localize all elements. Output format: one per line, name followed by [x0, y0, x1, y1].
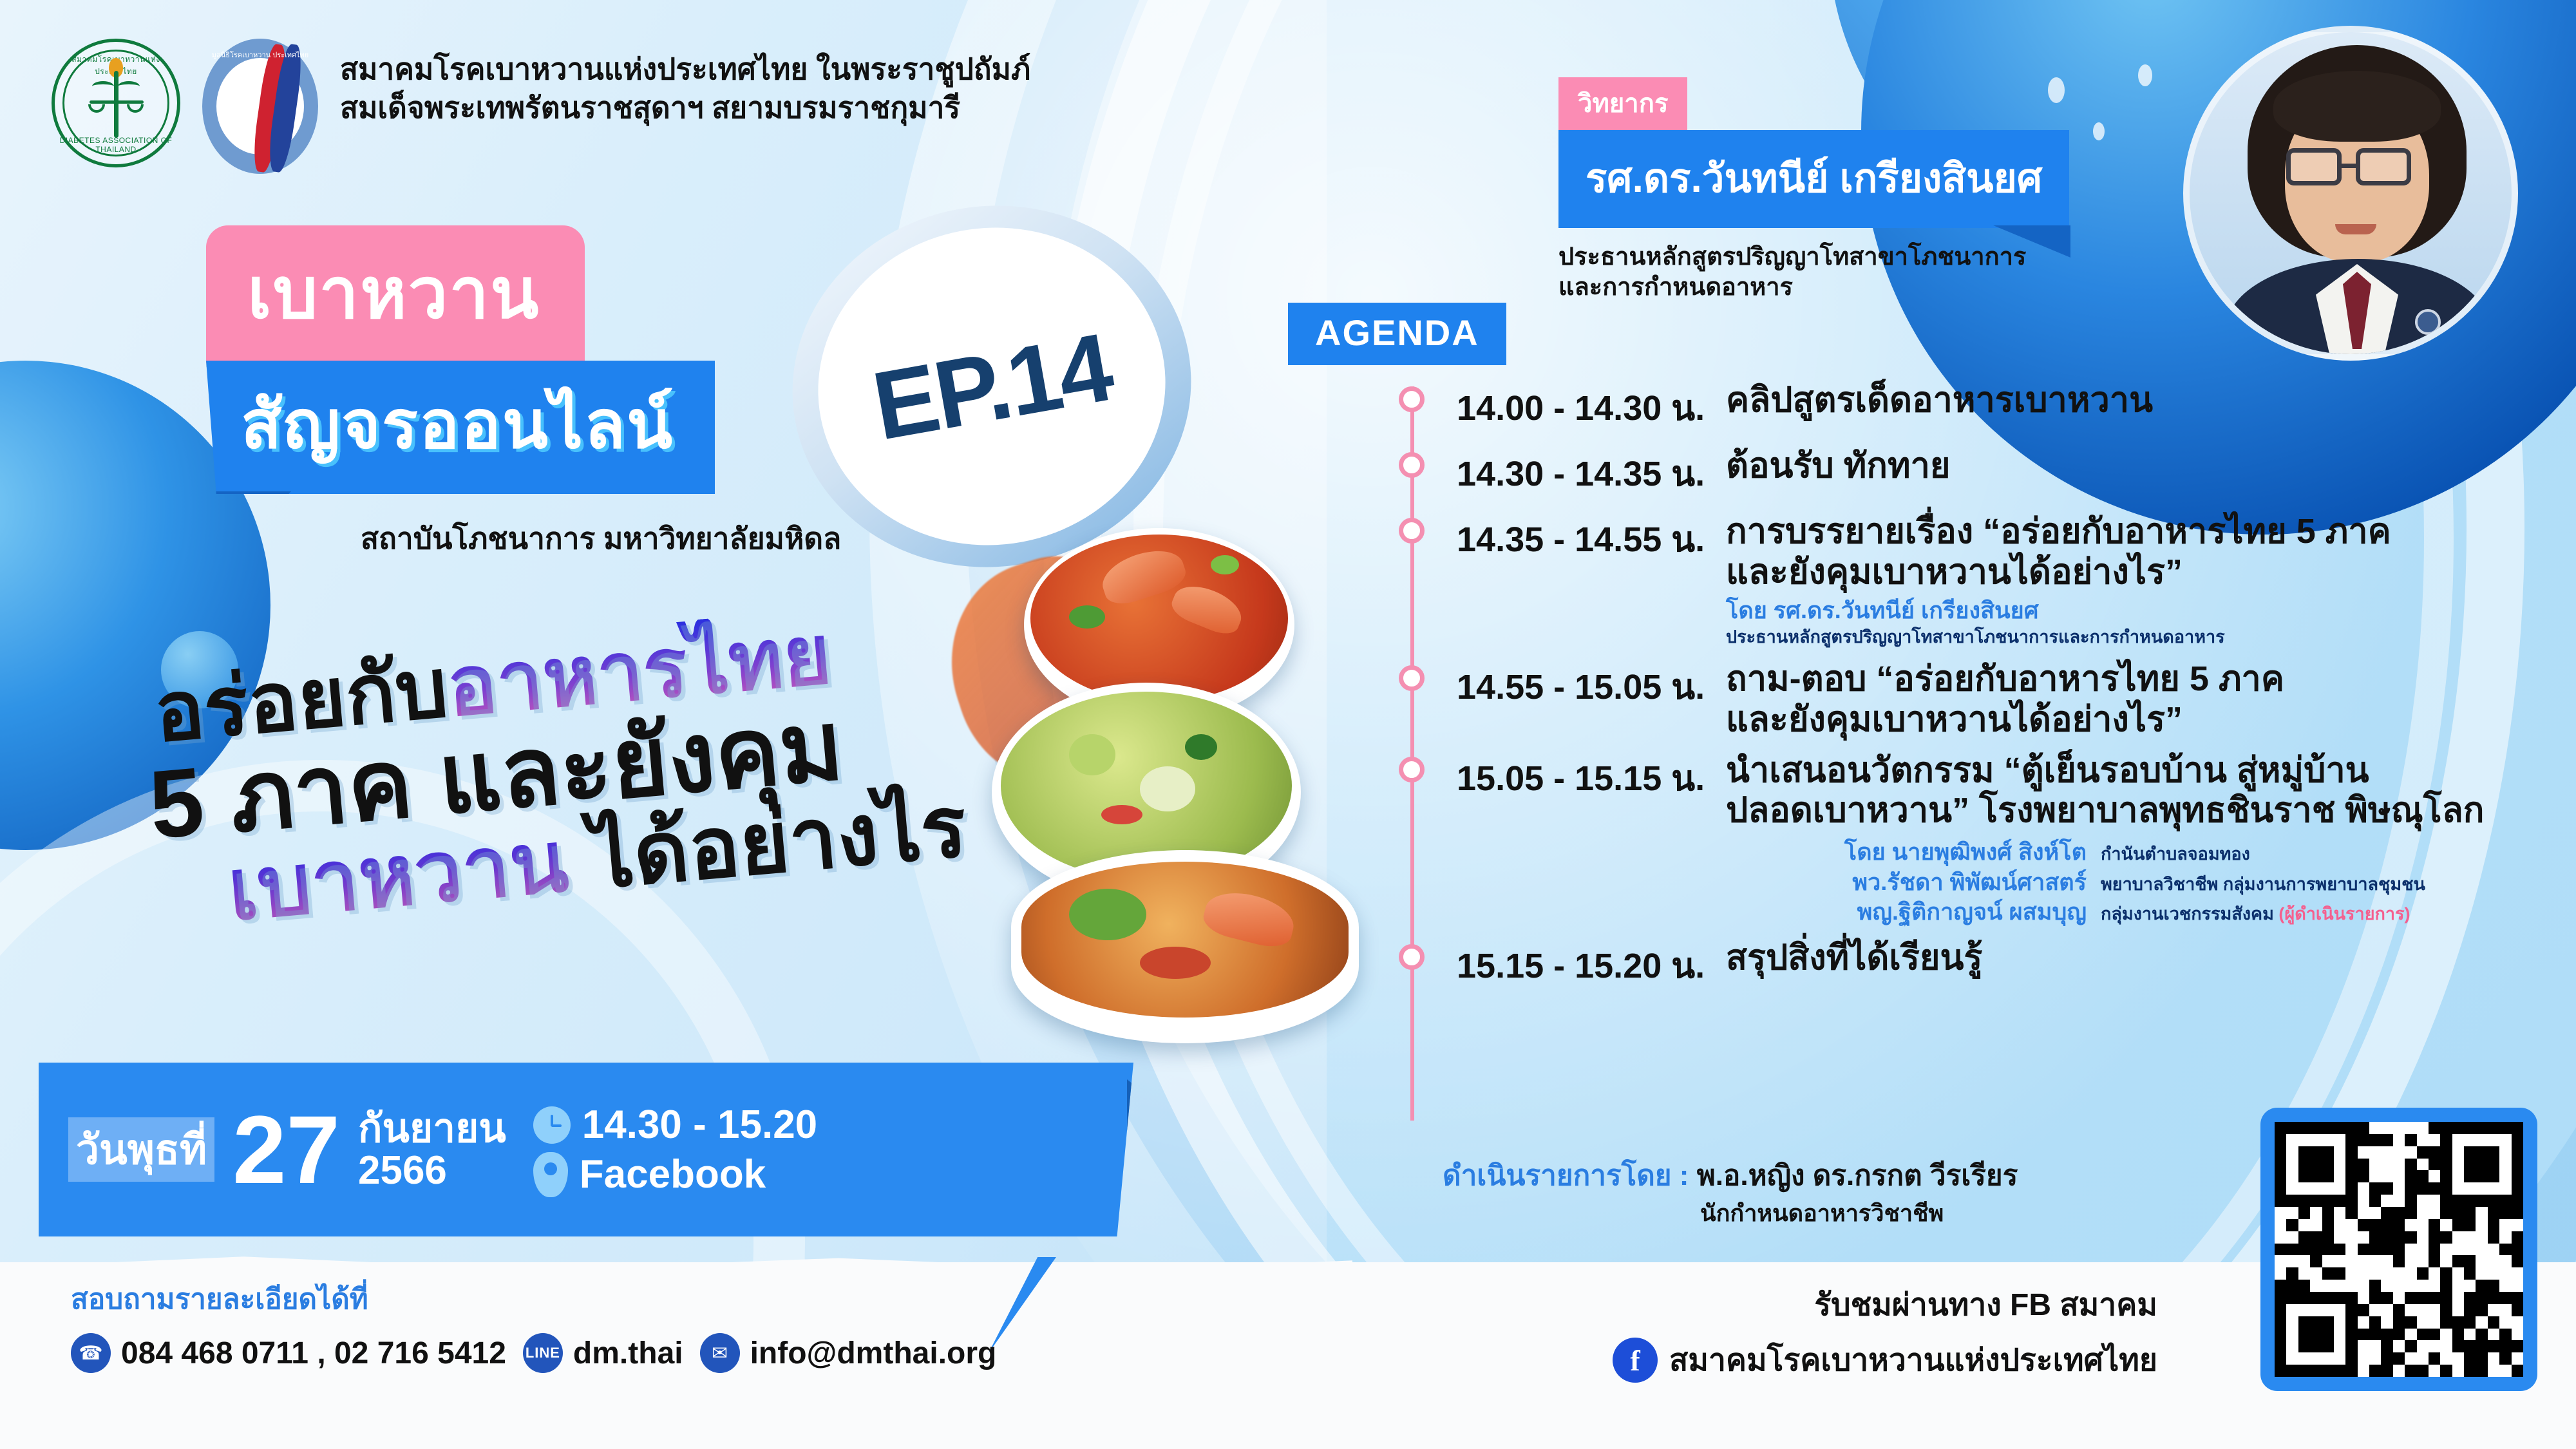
- footer-bar: สอบถามรายละเอียดได้ที่ ☎ 084 468 0711 , …: [0, 1262, 2576, 1449]
- facebook-icon: f: [1613, 1338, 1658, 1383]
- stir-fry-plate: [1011, 850, 1359, 1043]
- agenda-item-time: 14.35 - 14.55 น.: [1417, 511, 1726, 567]
- agenda-item-title: และยังคุมเบาหวานได้อย่างไร”: [1726, 552, 2563, 592]
- header-branding: สมาคมโรคเบาหวานแห่งประเทศไทย DIABETES AS…: [52, 39, 1030, 174]
- agenda-timeline-dot: [1399, 452, 1425, 478]
- agenda-timeline-dot: [1399, 944, 1425, 970]
- caduceus-scales-icon: [92, 64, 140, 142]
- org-line-2: สมเด็จพระเทพรัตนราชสุดาฯ สยามบรมราชกุมาร…: [340, 89, 1030, 128]
- title-blue-word: สัญจรออนไลน์: [206, 361, 715, 494]
- location-pin-icon: [533, 1152, 568, 1197]
- footer-watch-block: รับชมผ่านทาง FB สมาคม f สมาคมโรคเบาหวานแ…: [1613, 1280, 2157, 1385]
- credit-name: พญ.ฐิติกาญจน์ ผสมบุญ: [1726, 897, 2087, 927]
- event-time: 14.30 - 15.20: [582, 1102, 817, 1148]
- agenda-item-time: 14.30 - 14.35 น.: [1417, 446, 1726, 501]
- email-address: info@dmthai.org: [750, 1336, 997, 1371]
- agenda-item: 14.30 - 14.35 น.ต้อนรับ ทักทาย: [1417, 446, 2563, 501]
- facebook-page-name: สมาคมโรคเบาหวานแห่งประเทศไทย: [1669, 1336, 2157, 1385]
- weekday-label: วันพุธที่: [68, 1117, 214, 1182]
- line-contact[interactable]: LINE dm.thai: [523, 1333, 683, 1373]
- credit-row: พว.รัชดา พิพัฒน์ศาสตร์พยาบาลวิชาชีพ กลุ่…: [1726, 867, 2563, 898]
- agenda-item-time: 15.15 - 15.20 น.: [1417, 938, 1726, 993]
- day-number: 27: [232, 1106, 340, 1193]
- agenda-item-title: และยังคุมเบาหวานได้อย่างไร”: [1726, 699, 2563, 740]
- footer-contact-block: สอบถามรายละเอียดได้ที่ ☎ 084 468 0711 , …: [71, 1276, 996, 1373]
- moderator-name: พ.อ.หญิง ดร.กรกต วีรเรียร: [1697, 1160, 2018, 1191]
- diabetes-association-logo: สมาคมโรคเบาหวานแห่งประเทศไทย DIABETES AS…: [52, 39, 180, 167]
- credit-row: โดย นายพุฒิพงศ์ สิงห์โตกำนันตำบลจอมทอง: [1726, 837, 2563, 867]
- agenda-item-time: 14.55 - 15.05 น.: [1417, 659, 1726, 714]
- speaker-role: ประธานหลักสูตรปริญญาโทสาขาโภชนาการ และกา…: [1558, 242, 2069, 303]
- agenda-item-speaker: โดย รศ.ดร.วันทนีย์ เกรียงสินยศ: [1726, 596, 2563, 625]
- line-id: dm.thai: [573, 1336, 683, 1371]
- agenda-item-title: ต้อนรับ ทักทาย: [1726, 446, 2563, 486]
- credit-role: กลุ่มงานเวชกรรมสังคม (ผู้ดำเนินรายการ): [2101, 903, 2410, 925]
- contact-prompt: สอบถามรายละเอียดได้ที่: [71, 1276, 996, 1321]
- agenda-item-title: ปลอดเบาหวาน” โรงพยาบาลพุทธชินราช พิษณุโล…: [1726, 790, 2563, 831]
- logo-foundation-arc-text: มูลนิธิโรคเบาหวาน ประเทศไทย: [202, 49, 318, 61]
- qr-code-grid: [2275, 1122, 2523, 1377]
- phone-icon: ☎: [71, 1333, 111, 1373]
- agenda-item: 14.35 - 14.55 น.การบรรยายเรื่อง “อร่อยกั…: [1417, 511, 2563, 649]
- speaker-role-line-1: ประธานหลักสูตรปริญญาโทสาขาโภชนาการ: [1558, 242, 2069, 272]
- event-meta: 14.30 - 15.20 Facebook: [533, 1098, 817, 1201]
- title-pink-word: เบาหวาน: [206, 225, 585, 363]
- credit-role: พยาบาลวิชาชีพ กลุ่มงานการพยาบาลชุมชน: [2101, 873, 2425, 896]
- agenda-timeline-dot: [1399, 518, 1425, 544]
- agenda-item-body: นำเสนอนวัตกรรม “ตู้เย็นรอบบ้าน สู่หมู่บ้…: [1726, 750, 2563, 928]
- credit-mc-tag: (ผู้ดำเนินรายการ): [2278, 904, 2410, 923]
- agenda-item: 14.55 - 15.05 น.ถาม-ตอบ “อร่อยกับอาหารไท…: [1417, 659, 2563, 739]
- line-icon: LINE: [523, 1333, 563, 1373]
- moderator-line: ดำเนินรายการโดย : พ.อ.หญิง ดร.กรกต วีรเร…: [1443, 1159, 2018, 1193]
- diabetes-foundation-logo: มูลนิธิโรคเบาหวาน ประเทศไทย: [202, 39, 318, 174]
- speaker-card: วิทยากร รศ.ดร.วันทนีย์ เกรียงสินยศ ประธา…: [1558, 77, 2069, 303]
- agenda-heading: AGENDA: [1288, 303, 1506, 365]
- agenda-item-title: สรุปสิ่งที่ได้เรียนรู้: [1726, 938, 2563, 978]
- agenda-item-credits: โดย นายพุฒิพงศ์ สิงห์โตกำนันตำบลจอมทองพว…: [1726, 837, 2563, 927]
- qr-code[interactable]: [2260, 1108, 2537, 1391]
- agenda-item-time: 15.05 - 15.15 น.: [1417, 750, 1726, 806]
- credit-name: โดย นายพุฒิพงศ์ สิงห์โต: [1726, 837, 2087, 867]
- agenda-item-body: ถาม-ตอบ “อร่อยกับอาหารไทย 5 ภาคและยังคุม…: [1726, 659, 2563, 739]
- event-platform: Facebook: [580, 1151, 766, 1197]
- agenda-item-title: คลิปสูตรเด็ดอาหารเบาหวาน: [1726, 380, 2563, 421]
- thai-food-photo-cluster: [831, 515, 1359, 1030]
- agenda-item-title: นำเสนอนวัตกรรม “ตู้เย็นรอบบ้าน สู่หมู่บ้…: [1726, 750, 2563, 791]
- agenda-item-title: การบรรยายเรื่อง “อร่อยกับอาหารไทย 5 ภาค: [1726, 511, 2563, 552]
- speaker-tag: วิทยากร: [1558, 77, 1687, 131]
- agenda-item-body: คลิปสูตรเด็ดอาหารเบาหวาน: [1726, 380, 2563, 421]
- agenda-list: 14.00 - 14.30 น.คลิปสูตรเด็ดอาหารเบาหวาน…: [1417, 380, 2563, 1003]
- year-label: 2566: [358, 1150, 506, 1191]
- agenda-item: 15.05 - 15.15 น.นำเสนอนวัตกรรม “ตู้เย็นร…: [1417, 750, 2563, 928]
- credit-name: พว.รัชดา พิพัฒน์ศาสตร์: [1726, 867, 2087, 898]
- title-banner: เบาหวาน สัญจรออนไลน์: [206, 225, 715, 494]
- moderator-label: ดำเนินรายการโดย :: [1443, 1160, 1689, 1191]
- agenda-item: 14.00 - 14.30 น.คลิปสูตรเด็ดอาหารเบาหวาน: [1417, 380, 2563, 435]
- watch-label: รับชมผ่านทาง FB สมาคม: [1613, 1280, 2157, 1329]
- speaker-name: รศ.ดร.วันทนีย์ เกรียงสินยศ: [1558, 130, 2069, 228]
- email-contact[interactable]: ✉ info@dmthai.org: [700, 1333, 997, 1373]
- agenda-timeline-line: [1410, 386, 1414, 1121]
- logo-dm-bottom-text: DIABETES ASSOCIATION OF THAILAND: [55, 136, 177, 154]
- title-subtitle: สถาบันโภชนาการ มหาวิทยาลัยมหิดล: [361, 515, 841, 562]
- poster-canvas: สมาคมโรคเบาหวานแห่งประเทศไทย DIABETES AS…: [0, 0, 2576, 1449]
- facebook-page-row[interactable]: f สมาคมโรคเบาหวานแห่งประเทศไทย: [1613, 1336, 2157, 1385]
- agenda-timeline-dot: [1399, 386, 1425, 412]
- moderator-info: ดำเนินรายการโดย : พ.อ.หญิง ดร.กรกต วีรเร…: [1443, 1159, 2018, 1231]
- episode-badge: EP.14: [792, 206, 1191, 567]
- eyeglasses-icon: [2286, 148, 2342, 185]
- credit-role: กำนันตำบลจอมทอง: [2101, 843, 2250, 866]
- agenda-item-time: 14.00 - 14.30 น.: [1417, 380, 1726, 435]
- phone-number: 084 468 0711 , 02 716 5412: [121, 1336, 506, 1371]
- credit-row: พญ.ฐิติกาญจน์ ผสมบุญกลุ่มงานเวชกรรมสังคม…: [1726, 897, 2563, 927]
- agenda-item-body: การบรรยายเรื่อง “อร่อยกับอาหารไทย 5 ภาคแ…: [1726, 511, 2563, 649]
- agenda-item-speaker-role: ประธานหลักสูตรปริญญาโทสาขาโภชนาการและการ…: [1726, 626, 2563, 649]
- agenda-item-body: สรุปสิ่งที่ได้เรียนรู้: [1726, 938, 2563, 978]
- agenda-timeline-dot: [1399, 757, 1425, 782]
- speaker-role-line-2: และการกำหนดอาหาร: [1558, 272, 2069, 303]
- envelope-icon: ✉: [700, 1333, 740, 1373]
- organization-name: สมาคมโรคเบาหวานแห่งประเทศไทย ในพระราชูปถ…: [340, 39, 1030, 128]
- event-date-bar: วันพุธที่ 27 กันยายน 2566 14.30 - 15.20 …: [39, 1063, 1133, 1236]
- speaker-portrait-avatar: [2183, 26, 2518, 361]
- lapel-badge: [2415, 309, 2441, 335]
- clock-icon: [533, 1106, 571, 1144]
- agenda-item: 15.15 - 15.20 น.สรุปสิ่งที่ได้เรียนรู้: [1417, 938, 2563, 993]
- org-line-1: สมาคมโรคเบาหวานแห่งประเทศไทย ในพระราชูปถ…: [340, 50, 1030, 89]
- moderator-role: นักกำหนดอาหารวิชาชีพ: [1700, 1195, 2018, 1231]
- phone-contact[interactable]: ☎ 084 468 0711 , 02 716 5412: [71, 1333, 506, 1373]
- agenda-item-title: ถาม-ตอบ “อร่อยกับอาหารไทย 5 ภาค: [1726, 659, 2563, 699]
- month-label: กันยายน: [358, 1108, 506, 1150]
- agenda-item-body: ต้อนรับ ทักทาย: [1726, 446, 2563, 486]
